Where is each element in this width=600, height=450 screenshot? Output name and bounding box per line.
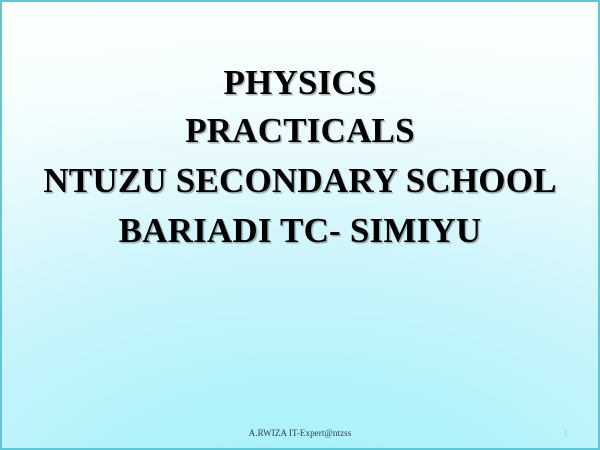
slide-footer: A.RWIZA IT-Expert@ntzss 1 [2, 426, 598, 444]
title-line-1: PHYSICS [2, 60, 598, 106]
title-block: PHYSICS PRACTICALS NTUZU SECONDARY SCHOO… [2, 60, 598, 256]
title-line-3: NTUZU SECONDARY SCHOOL [2, 156, 598, 206]
footer-credit-text: A.RWIZA IT-Expert@ntzss [2, 426, 598, 440]
title-line-4: BARIADI TC- SIMIYU [2, 206, 598, 256]
slide-canvas: PHYSICS PRACTICALS NTUZU SECONDARY SCHOO… [0, 0, 600, 450]
title-line-2: PRACTICALS [2, 106, 598, 156]
slide-number: 1 [564, 426, 569, 440]
